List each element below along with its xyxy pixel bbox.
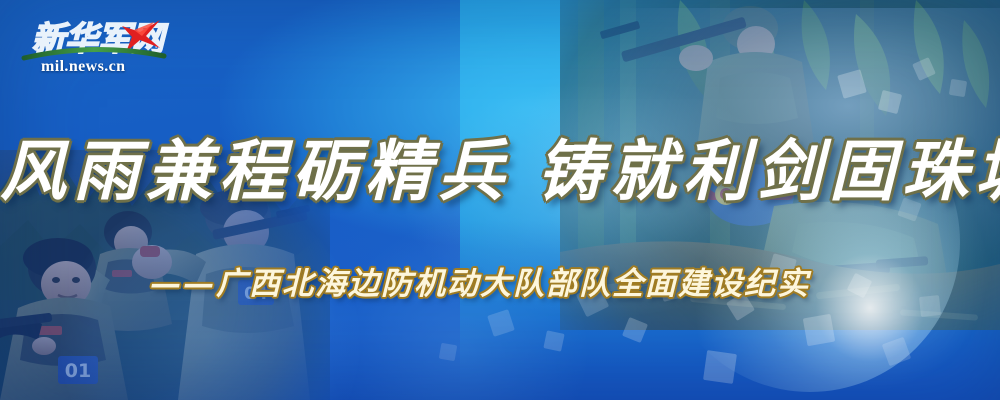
banner-headline: 风雨兼程砺精兵铸就利剑固珠城 [0, 118, 1000, 214]
headline-part-one: 风雨兼程砺精兵 [0, 132, 511, 210]
headline-part-two: 铸就利剑固珠城 [537, 132, 1000, 210]
banner-subtitle: ——广西北海边防机动大队部队全面建设纪实 [0, 258, 1000, 303]
news-feature-banner: 01 04 [0, 0, 1000, 400]
logo-url-text: mil.news.cn [41, 58, 125, 76]
site-logo[interactable]: 新华军网 mil.news.cn [14, 6, 174, 78]
